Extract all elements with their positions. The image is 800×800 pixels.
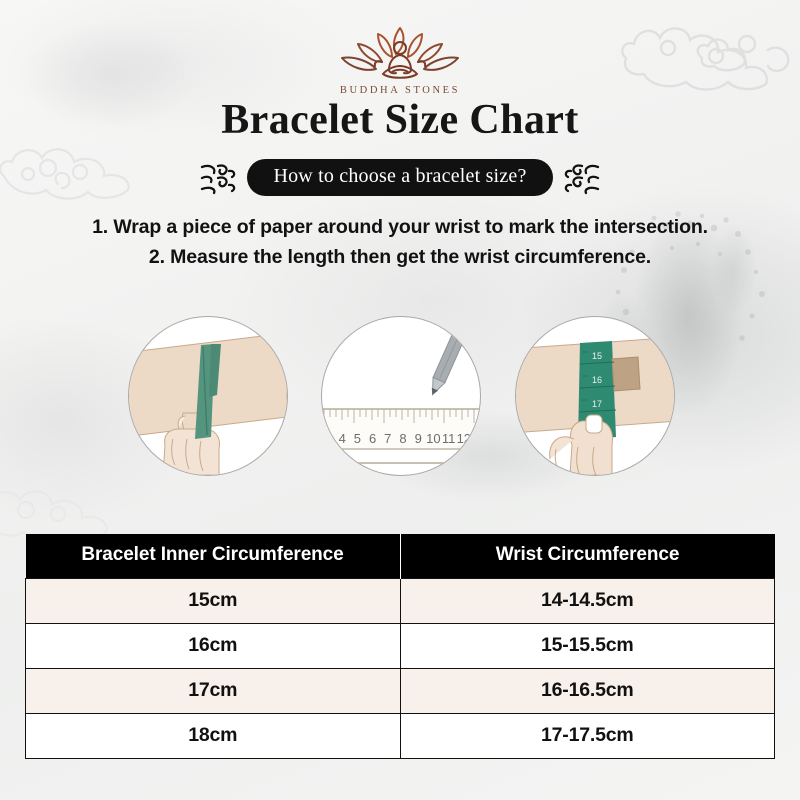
- how-to-banner: How to choose a bracelet size?: [247, 159, 552, 196]
- table-body: 15cm14-14.5cm16cm15-15.5cm17cm16-16.5cm1…: [26, 579, 775, 759]
- ruler-tick-label: 10: [426, 431, 440, 446]
- instruction-step-2: 2. Measure the length then get the wrist…: [0, 243, 800, 273]
- brand-name: BUDDHA STONES: [340, 85, 460, 96]
- table-row: 18cm17-17.5cm: [26, 714, 775, 759]
- illustration-ruler-and-pencil: 3456789101112: [321, 316, 481, 476]
- table-row: 17cm16-16.5cm: [26, 669, 775, 714]
- cell-bracelet-circumference: 17cm: [26, 669, 401, 714]
- tape-measure-label: 15: [592, 351, 602, 361]
- ruler-tick-label: 9: [415, 431, 422, 446]
- table-header-row: Bracelet Inner Circumference Wrist Circu…: [26, 534, 775, 579]
- ruler-tick-label: 4: [339, 431, 346, 446]
- ruler-tick-label: 12: [457, 431, 471, 446]
- table-row: 16cm15-15.5cm: [26, 624, 775, 669]
- size-table: Bracelet Inner Circumference Wrist Circu…: [25, 534, 775, 759]
- cell-bracelet-circumference: 15cm: [26, 579, 401, 624]
- table-header-wrist: Wrist Circumference: [400, 534, 775, 579]
- tape-measure-label: 16: [592, 375, 602, 385]
- wrist-paper-wrap-icon: [129, 317, 287, 475]
- cloud-swirl-ornament-left-icon: [198, 161, 238, 195]
- cloud-swirl-ornament-right-icon: [562, 161, 602, 195]
- cell-wrist-circumference: 14-14.5cm: [400, 579, 775, 624]
- cell-wrist-circumference: 15-15.5cm: [400, 624, 775, 669]
- cell-wrist-circumference: 17-17.5cm: [400, 714, 775, 759]
- instructions-list: 1. Wrap a piece of paper around your wri…: [0, 213, 800, 272]
- instruction-step-1: 1. Wrap a piece of paper around your wri…: [0, 213, 800, 243]
- table-row: 15cm14-14.5cm: [26, 579, 775, 624]
- size-chart-page: BUDDHA STONES Bracelet Size Chart How to…: [0, 0, 800, 800]
- illustration-row: 3456789101112 151617: [0, 316, 800, 476]
- cell-bracelet-circumference: 18cm: [26, 714, 401, 759]
- illustration-wrist-with-paper-strip: [128, 316, 288, 476]
- ruler-tick-label: 8: [399, 431, 406, 446]
- banner-row: How to choose a bracelet size?: [0, 159, 800, 196]
- cell-bracelet-circumference: 16cm: [26, 624, 401, 669]
- cell-wrist-circumference: 16-16.5cm: [400, 669, 775, 714]
- ruler-pencil-icon: 3456789101112: [322, 317, 480, 475]
- tape-measure-label: 17: [592, 399, 602, 409]
- brand-logo: BUDDHA STONES: [0, 22, 800, 96]
- ruler-tick-label: 6: [369, 431, 376, 446]
- ruler-tick-label: 3: [323, 431, 330, 446]
- ruler-tick-label: 11: [442, 431, 456, 446]
- illustration-measuring-tape-on-wrist: 151617: [515, 316, 675, 476]
- tape-measure-wrist-icon: 151617: [516, 317, 674, 475]
- table-header-bracelet: Bracelet Inner Circumference: [26, 534, 401, 579]
- ruler-tick-label: 5: [354, 431, 361, 446]
- lotus-meditation-icon: [334, 22, 466, 84]
- page-title: Bracelet Size Chart: [0, 96, 800, 144]
- ruler-tick-label: 7: [384, 431, 391, 446]
